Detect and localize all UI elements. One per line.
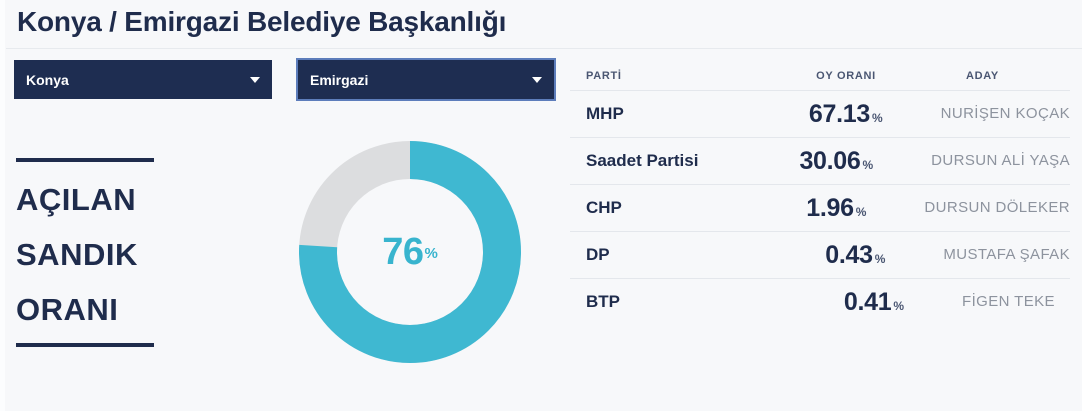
district-select[interactable]: Emirgazi bbox=[296, 58, 556, 101]
results-table-body: MHP67.13%NURİŞEN KOÇAKSaadet Partisi30.0… bbox=[570, 90, 1070, 325]
cell-vote-rate: 30.06% bbox=[752, 147, 891, 176]
vote-rate-value: 67.13 bbox=[809, 100, 870, 128]
headline-line-3: ORANI bbox=[16, 282, 154, 337]
ballot-box-headline: AÇILAN SANDIK ORANI bbox=[16, 158, 154, 347]
left-edge-strip bbox=[0, 0, 5, 411]
party-name: Saadet Partisi bbox=[586, 151, 698, 170]
column-header-rate: OY ORANI bbox=[770, 70, 922, 82]
headline-line-1: AÇILAN bbox=[16, 172, 154, 227]
party-name: BTP bbox=[586, 292, 620, 311]
cell-party: MHP bbox=[570, 104, 758, 124]
table-row: CHP1.96%DURSUN DÖLEKER bbox=[570, 184, 1070, 231]
vote-rate-unit: % bbox=[863, 158, 874, 172]
vote-rate-value: 0.43 bbox=[825, 241, 872, 269]
title-divider bbox=[6, 48, 1082, 49]
ballot-box-donut-chart: 76% bbox=[298, 140, 522, 364]
table-row: DP0.43%MUSTAFA ŞAFAK bbox=[570, 231, 1070, 278]
party-name: MHP bbox=[586, 104, 624, 123]
cell-party: Saadet Partisi bbox=[570, 151, 752, 171]
table-row: BTP0.41%FİGEN TEKE bbox=[570, 278, 1070, 325]
vote-rate-value: 30.06 bbox=[799, 147, 860, 175]
cell-candidate: NURİŞEN KOÇAK bbox=[901, 105, 1070, 123]
cell-party: BTP bbox=[570, 292, 770, 312]
vote-rate-unit: % bbox=[893, 299, 904, 313]
cell-party: DP bbox=[570, 245, 759, 265]
chevron-down-icon bbox=[532, 77, 542, 83]
candidate-name: FİGEN TEKE bbox=[962, 293, 1055, 310]
cell-candidate: FİGEN TEKE bbox=[922, 293, 1070, 311]
donut-svg bbox=[298, 140, 522, 364]
candidate-name: NURİŞEN KOÇAK bbox=[941, 105, 1070, 122]
vote-rate-unit: % bbox=[872, 111, 883, 125]
candidate-name: MUSTAFA ŞAFAK bbox=[943, 246, 1070, 263]
cell-candidate: DURSUN ALİ YAŞA bbox=[891, 152, 1070, 170]
cell-candidate: MUSTAFA ŞAFAK bbox=[903, 246, 1070, 264]
column-header-candidate: ADAY bbox=[922, 70, 1070, 82]
party-name: DP bbox=[586, 245, 610, 264]
headline-line-2: SANDIK bbox=[16, 227, 154, 282]
vote-rate-unit: % bbox=[856, 205, 867, 219]
results-table: PARTİ OY ORANI ADAY MHP67.13%NURİŞEN KOÇ… bbox=[570, 62, 1070, 325]
vote-rate-unit: % bbox=[875, 252, 886, 266]
results-table-header: PARTİ OY ORANI ADAY bbox=[570, 62, 1070, 90]
page-title: Konya / Emirgazi Belediye Başkanlığı bbox=[17, 6, 506, 38]
table-row: Saadet Partisi30.06%DURSUN ALİ YAŞA bbox=[570, 137, 1070, 184]
chevron-down-icon bbox=[250, 77, 260, 83]
headline-text: AÇILAN SANDIK ORANI bbox=[16, 162, 154, 337]
cell-vote-rate: 1.96% bbox=[748, 194, 884, 223]
province-select[interactable]: Konya bbox=[14, 60, 272, 99]
cell-vote-rate: 67.13% bbox=[758, 100, 901, 129]
candidate-name: DURSUN ALİ YAŞA bbox=[931, 152, 1070, 169]
party-name: CHP bbox=[586, 198, 622, 217]
headline-rule-bottom bbox=[16, 343, 154, 347]
province-select-value: Konya bbox=[26, 72, 242, 88]
column-header-party: PARTİ bbox=[570, 70, 770, 82]
candidate-name: DURSUN DÖLEKER bbox=[924, 199, 1070, 216]
cell-party: CHP bbox=[570, 198, 748, 218]
cell-candidate: DURSUN DÖLEKER bbox=[884, 199, 1070, 217]
district-select-value: Emirgazi bbox=[310, 72, 524, 88]
cell-vote-rate: 0.43% bbox=[759, 241, 903, 270]
election-result-panel: Konya / Emirgazi Belediye Başkanlığı Kon… bbox=[0, 0, 1082, 411]
cell-vote-rate: 0.41% bbox=[770, 288, 922, 317]
vote-rate-value: 0.41 bbox=[844, 288, 891, 316]
table-row: MHP67.13%NURİŞEN KOÇAK bbox=[570, 90, 1070, 137]
vote-rate-value: 1.96 bbox=[806, 194, 853, 222]
